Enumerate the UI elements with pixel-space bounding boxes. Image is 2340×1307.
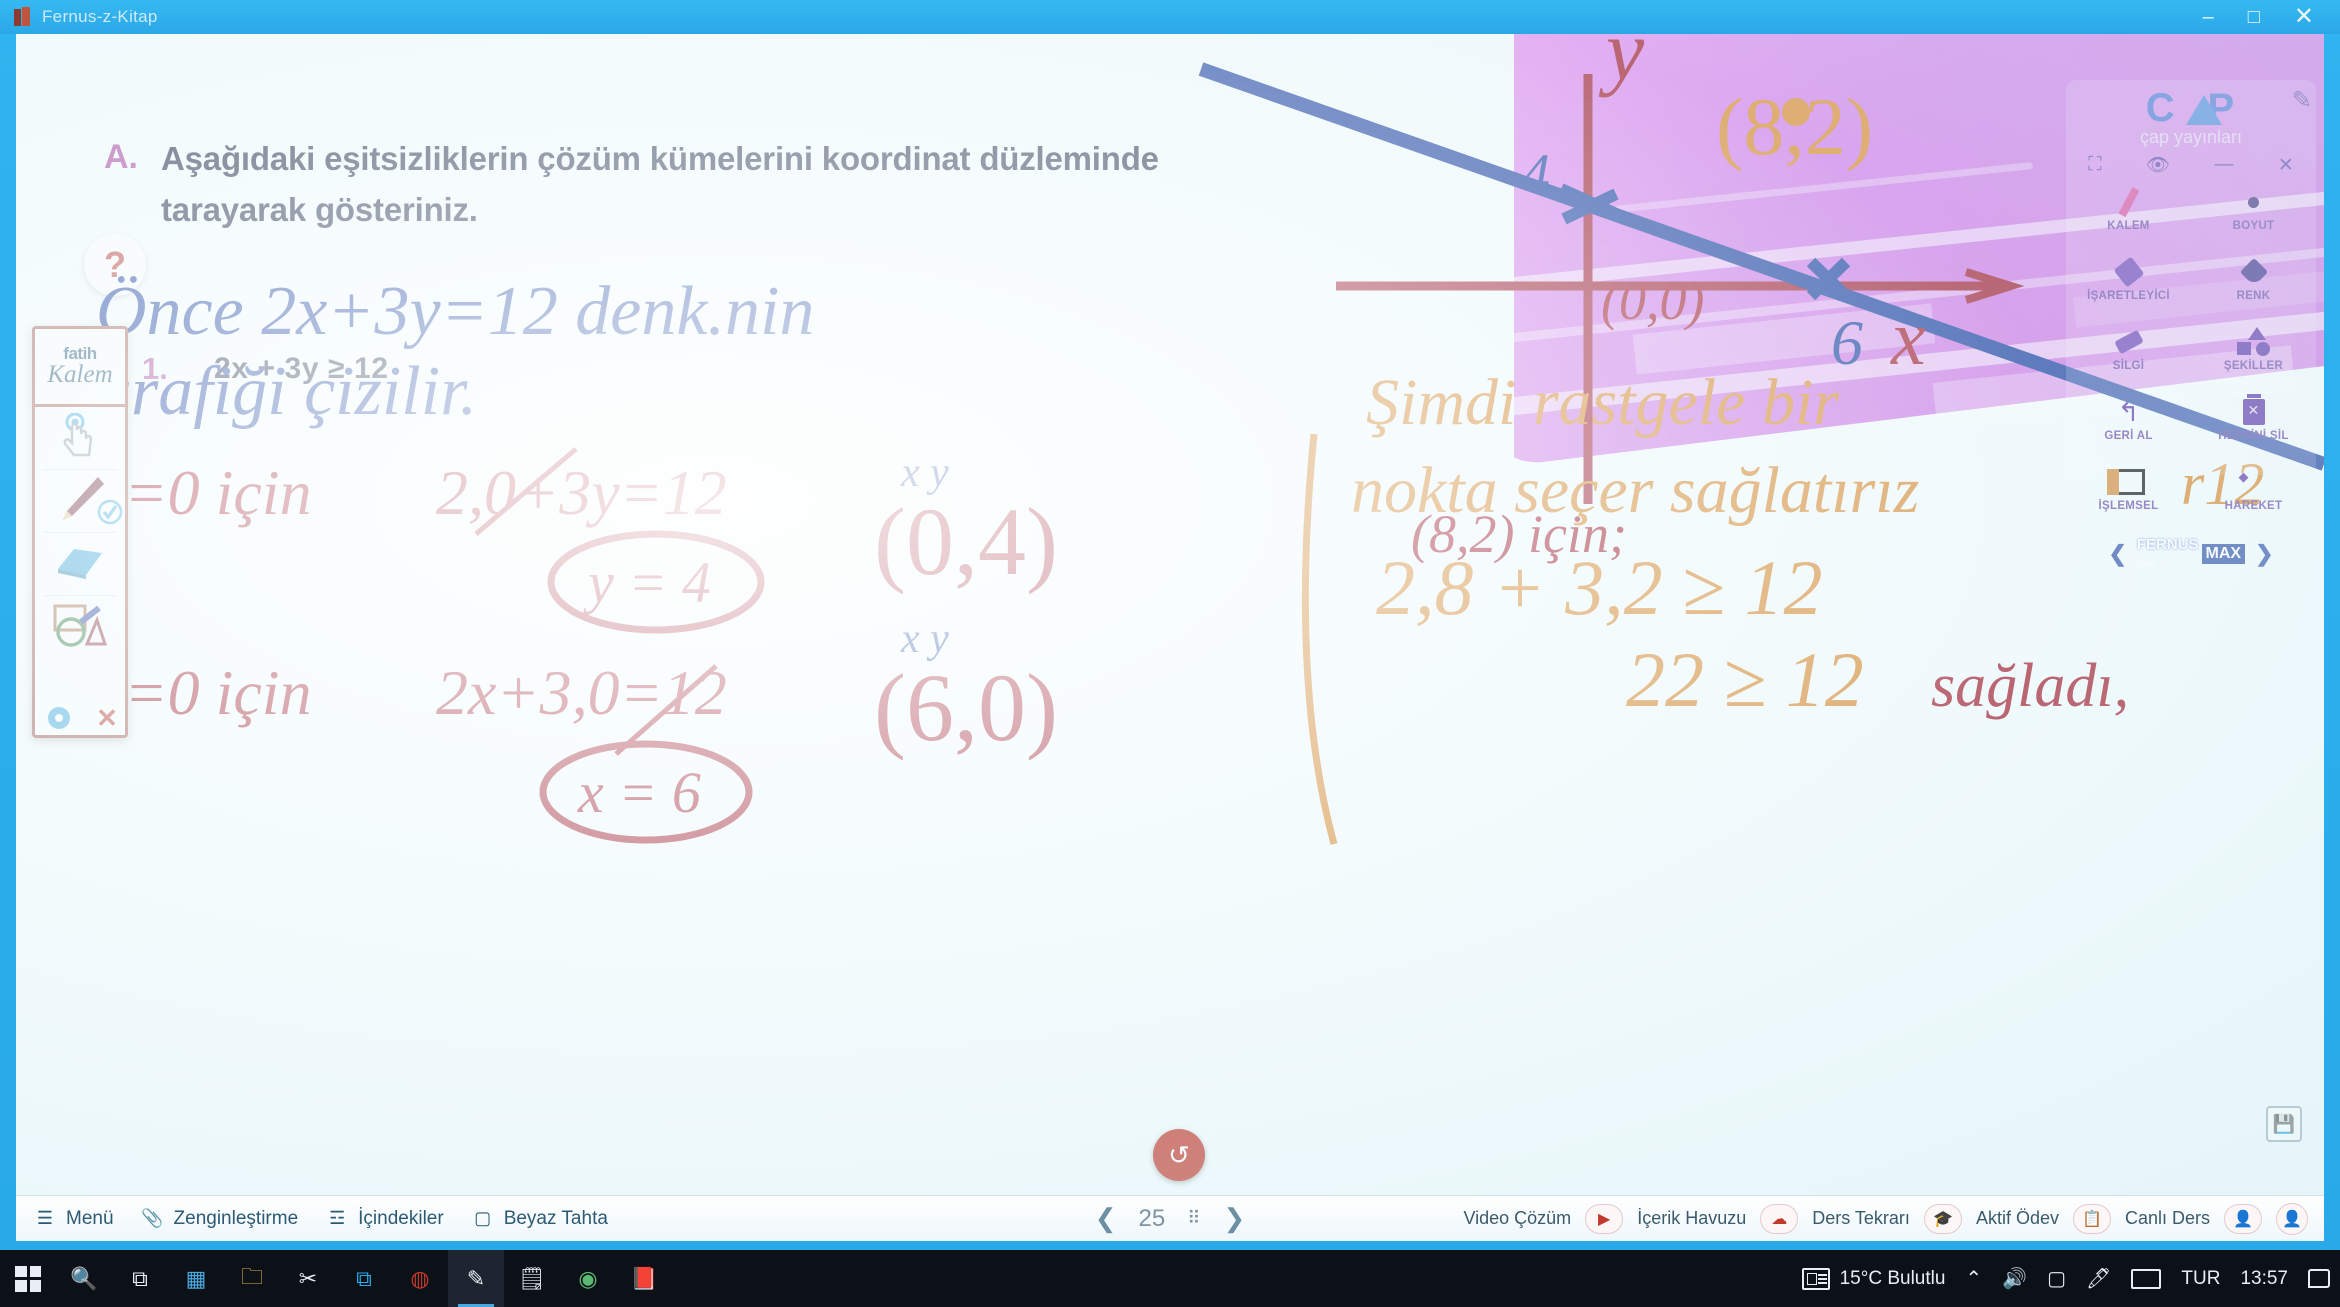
- language-indicator[interactable]: TUR: [2181, 1268, 2220, 1290]
- pen-menu-icon[interactable]: 🖊: [2086, 1266, 2111, 1291]
- fernus-max: MAX: [2202, 544, 2246, 564]
- clipboard-icon[interactable]: 📋: [2073, 1204, 2111, 1234]
- opera-icon: ◍: [410, 1266, 429, 1292]
- edit-page-icon[interactable]: ✎: [2292, 86, 2312, 115]
- pen-toolbar-brand: fatih Kalem: [35, 329, 125, 407]
- move-icon: ◆: [2239, 464, 2269, 500]
- taskbar-app-explorer[interactable]: 🗀: [224, 1250, 280, 1307]
- cap-tool-hareket[interactable]: ◆ HAREKET: [2191, 464, 2316, 532]
- notes-icon: 🗒: [518, 1266, 546, 1292]
- cap-label: İŞARETLEYİCİ: [2087, 290, 2170, 302]
- taskbar-apps: 🔍 ⧉ ▦ 🗀 ✂ ⧉ ◍ ✎ 🗒 ◉ 📕: [0, 1250, 672, 1307]
- tool-eraser[interactable]: [35, 533, 125, 595]
- page-navigation: ❮ 25 ⠿ ❯: [1095, 1203, 1245, 1234]
- check-badge-icon: [97, 499, 123, 530]
- calculator-icon: ▦: [186, 1266, 207, 1292]
- notification-icon[interactable]: [2308, 1269, 2330, 1288]
- page-grid-icon[interactable]: ⠿: [1187, 1212, 1201, 1225]
- bottom-item-label: İçindekiler: [358, 1208, 444, 1230]
- hw-red-pair2: (6,0): [874, 654, 1058, 761]
- eye-icon[interactable]: 👁: [2146, 153, 2170, 177]
- hw-pair1-header: x y: [900, 450, 949, 496]
- hw-red-ok: sağladı,: [1931, 652, 2129, 720]
- volume-icon[interactable]: 🔊: [2002, 1266, 2027, 1291]
- hw-red-box1: y = 4: [583, 550, 711, 615]
- eraser-icon: [52, 543, 108, 586]
- person-card-icon[interactable]: 👤: [2224, 1204, 2262, 1234]
- cap-tool-kalem[interactable]: KALEM: [2066, 184, 2191, 252]
- help-badge[interactable]: ?: [84, 234, 146, 296]
- size-dot-icon: [2248, 184, 2259, 220]
- shapes-icon: [51, 602, 109, 653]
- bottom-item-zenginlestirme[interactable]: 📎 Zenginleştirme: [142, 1208, 299, 1230]
- weather-text: 15°C Bulutlu: [1840, 1268, 1946, 1290]
- cap-label: GERİ AL: [2104, 430, 2152, 442]
- cap-nav: ❮ FERNUS kitap.com MAX ❯: [2066, 536, 2316, 572]
- cap-tool-islemsel[interactable]: İŞLEMSEL: [2066, 464, 2191, 532]
- device-icon[interactable]: ▢: [2047, 1266, 2066, 1291]
- cap-label: İŞLEMSEL: [2099, 500, 2159, 512]
- brand-kalem: Kalem: [47, 361, 112, 389]
- tray-expand-icon[interactable]: ⌃: [1965, 1266, 1982, 1291]
- clock[interactable]: 13:57: [2240, 1268, 2288, 1290]
- undo-icon: ↰: [2118, 394, 2140, 430]
- pen-toolbar-footer: ✕: [35, 705, 131, 731]
- cap-tool-isaretleyici[interactable]: İŞARETLEYİCİ: [2066, 254, 2191, 322]
- play-icon[interactable]: ▶: [1585, 1204, 1623, 1234]
- cap-label: BOYUT: [2233, 220, 2275, 232]
- search-icon: 🔍: [70, 1266, 97, 1292]
- cap-label: HEPSİNİ SİL: [2218, 430, 2288, 442]
- fatih-pen-toolbar[interactable]: fatih Kalem: [32, 326, 128, 738]
- color-drop-icon: [2244, 254, 2264, 290]
- cap-label: HAREKET: [2225, 500, 2283, 512]
- hw-orange-line2: nokta seçer sağlatırız: [1351, 454, 1919, 527]
- hw-pair2-header: x y: [900, 616, 949, 662]
- window-titlebar: Fernus-z-Kitap – □ ✕: [0, 0, 2340, 34]
- cap-tool-panel[interactable]: CAP çap yayınları ⛶ 👁 — ✕ KALEM: [2066, 80, 2316, 475]
- system-tray: 15°C Bulutlu ⌃ 🔊 ▢ 🖊 TUR 13:57: [1802, 1266, 2330, 1291]
- bottom-left-group: ☰ Menü 📎 Zenginleştirme ☲ İçindekiler ▢ …: [16, 1208, 608, 1230]
- task-view-icon: ⧉: [132, 1266, 148, 1292]
- hamburger-icon: ☰: [34, 1209, 56, 1229]
- fernus-brand: FERNUS: [2137, 536, 2199, 553]
- window-controls: – □ ✕: [2203, 0, 2332, 34]
- app-window: Fernus-z-Kitap – □ ✕ A. ?: [0, 0, 2340, 1250]
- cap-tool-boyut[interactable]: BOYUT: [2191, 184, 2316, 252]
- eraser-icon: [2116, 324, 2142, 360]
- cap-label: ŞEKİLLER: [2224, 360, 2283, 372]
- taskbar-app-notes[interactable]: 🗒: [504, 1250, 560, 1307]
- shapes-icon: [2237, 324, 2271, 360]
- screen: Fernus-z-Kitap – □ ✕ A. ?: [0, 0, 2340, 1307]
- bottom-item-canli-ders[interactable]: Canlı Ders: [2125, 1208, 2210, 1229]
- bottom-item-label: Menü: [66, 1208, 114, 1230]
- restore-icon[interactable]: ⛶: [2088, 154, 2101, 176]
- hw-red-pair1: (0,4): [874, 488, 1058, 595]
- bottom-item-label: Zenginleştirme: [174, 1208, 299, 1230]
- app-icon: [14, 7, 32, 27]
- hw-blue-line1: Önce 2x+3y=12 denk.nin: [96, 273, 814, 350]
- item-equation: 2x + 3y ≥ 12: [214, 352, 389, 386]
- graduation-icon[interactable]: 🎓: [1924, 1204, 1962, 1234]
- list-icon: ☲: [326, 1209, 348, 1229]
- chrome-icon: ◉: [578, 1266, 597, 1292]
- cap-next-button[interactable]: ❯: [2255, 541, 2273, 567]
- taskbar-app-calculator[interactable]: ▦: [168, 1250, 224, 1307]
- save-icon[interactable]: 💾: [2266, 1106, 2302, 1142]
- start-button[interactable]: [0, 1250, 56, 1307]
- bottom-item-icerik-havuzu[interactable]: İçerik Havuzu: [1637, 1208, 1746, 1229]
- keyboard-icon[interactable]: [2131, 1269, 2161, 1289]
- bottom-item-aktif-odev[interactable]: Aktif Ödev: [1976, 1208, 2059, 1229]
- snip-icon: ✂: [299, 1266, 317, 1292]
- next-page-button[interactable]: ❯: [1223, 1203, 1245, 1234]
- prev-page-button[interactable]: ❮: [1095, 1203, 1117, 1234]
- operational-icon: [2113, 464, 2145, 500]
- app-bottom-toolbar: ☰ Menü 📎 Zenginleştirme ☲ İçindekiler ▢ …: [16, 1195, 2324, 1241]
- paperclip-icon: 📎: [142, 1209, 164, 1229]
- minimize-icon[interactable]: —: [2214, 154, 2233, 176]
- book-page[interactable]: A. ? Aşağıdaki eşitsizliklerin çözüm küm…: [16, 34, 2324, 1202]
- cap-tool-grid: KALEM BOYUT İŞARETLEYİCİ RENK: [2066, 184, 2316, 532]
- bottom-item-video-cozum[interactable]: Video Çözüm: [1463, 1208, 1571, 1229]
- cap-window-controls: ⛶ 👁 — ✕: [2066, 148, 2316, 182]
- bottom-right-group: Video Çözüm ▶ İçerik Havuzu ☁ Ders Tekra…: [1463, 1203, 2308, 1235]
- weather-widget[interactable]: 15°C Bulutlu: [1802, 1268, 1946, 1290]
- window-title: Fernus-z-Kitap: [42, 7, 158, 27]
- settings-icon[interactable]: [48, 707, 70, 729]
- item-number: 1.: [142, 351, 168, 387]
- bottom-item-menu[interactable]: ☰ Menü: [34, 1208, 114, 1230]
- bottom-item-ders-tekrari[interactable]: Ders Tekrarı: [1812, 1208, 1910, 1229]
- taskbar-app-snip[interactable]: ✂: [280, 1250, 336, 1307]
- hw-red-point-label: (8,2) için;: [1411, 504, 1627, 564]
- cap-tool-hepsini-sil[interactable]: HEPSİNİ SİL: [2191, 394, 2316, 462]
- close-button[interactable]: ✕: [2294, 5, 2314, 29]
- taskbar-app-screen-share[interactable]: ⧉: [336, 1250, 392, 1307]
- fernus-url: kitap.com: [2137, 559, 2178, 570]
- cap-logo-text: CAP: [2146, 86, 2236, 131]
- hw-orange-calc2: 22 ≥ 12: [1626, 636, 1864, 723]
- bottom-item-icindekiler[interactable]: ☲ İçindekiler: [326, 1208, 444, 1230]
- cap-tool-geri-al[interactable]: ↰ GERİ AL: [2066, 394, 2191, 462]
- taskbar-app-opera[interactable]: ◍: [392, 1250, 448, 1307]
- highlighter-icon: [2118, 254, 2140, 290]
- page-number[interactable]: 25: [1139, 1205, 1166, 1233]
- cap-label: SİLGİ: [2113, 360, 2145, 372]
- avatar[interactable]: 👤: [2276, 1203, 2308, 1235]
- question-instruction: Aşağıdaki eşitsizliklerin çözüm kümeleri…: [161, 134, 1221, 236]
- taskbar-app-book[interactable]: 📕: [616, 1250, 672, 1307]
- tool-touch-pointer[interactable]: [35, 407, 125, 469]
- close-toolbar-icon[interactable]: ✕: [96, 705, 118, 731]
- hw-red-eq1: 2,0+3y=12: [436, 457, 727, 528]
- hand-pointer-icon: [58, 413, 102, 464]
- task-view-button[interactable]: ⧉: [112, 1250, 168, 1307]
- bottom-item-label: Beyaz Tahta: [504, 1208, 608, 1230]
- news-icon: [1802, 1268, 1830, 1290]
- taskbar-app-pen[interactable]: ✎: [448, 1250, 504, 1307]
- maximize-button[interactable]: □: [2248, 7, 2260, 27]
- pen-icon: ✎: [467, 1266, 485, 1292]
- cap-branding: CAP çap yayınları: [2066, 80, 2316, 148]
- cap-prev-button[interactable]: ❮: [2108, 541, 2126, 567]
- pencil-icon: [2125, 184, 2133, 220]
- bottom-item-beyaz-tahta[interactable]: ▢ Beyaz Tahta: [472, 1208, 608, 1230]
- search-button[interactable]: 🔍: [56, 1250, 112, 1307]
- tool-shapes[interactable]: [35, 596, 125, 658]
- minimize-button[interactable]: –: [2203, 7, 2214, 27]
- cap-tool-silgi[interactable]: SİLGİ: [2066, 324, 2191, 392]
- hw-red-box2: x = 6: [577, 760, 701, 825]
- taskbar-app-chrome[interactable]: ◉: [560, 1250, 616, 1307]
- trash-icon: [2243, 394, 2265, 430]
- tool-fountain-pen[interactable]: [35, 470, 125, 532]
- close-icon[interactable]: ✕: [2278, 154, 2294, 177]
- cloud-icon[interactable]: ☁: [1760, 1204, 1798, 1234]
- hw-orange-calc1: 2,8 + 3,2 ≥ 12: [1376, 544, 1822, 631]
- start-icon: [15, 1266, 41, 1292]
- cap-tool-sekiller[interactable]: ŞEKİLLER: [2191, 324, 2316, 392]
- windows-taskbar: 🔍 ⧉ ▦ 🗀 ✂ ⧉ ◍ ✎ 🗒 ◉ 📕 15°C Bulutlu ⌃ 🔊 ▢…: [0, 1250, 2340, 1307]
- fernus-badge: FERNUS kitap.com MAX: [2137, 536, 2245, 572]
- section-letter: A.: [104, 138, 138, 177]
- hw-red-eq2: 2x+3,0=12: [436, 657, 727, 728]
- screen-share-icon: ⧉: [356, 1266, 372, 1292]
- whiteboard-icon: ▢: [472, 1209, 494, 1229]
- cap-label: KALEM: [2107, 220, 2149, 232]
- cap-tool-renk[interactable]: RENK: [2191, 254, 2316, 322]
- cap-label: RENK: [2237, 290, 2271, 302]
- file-explorer-icon: 🗀: [241, 1260, 263, 1298]
- book-icon: 📕: [630, 1266, 657, 1292]
- undo-floating-button[interactable]: ↺: [1153, 1129, 1205, 1181]
